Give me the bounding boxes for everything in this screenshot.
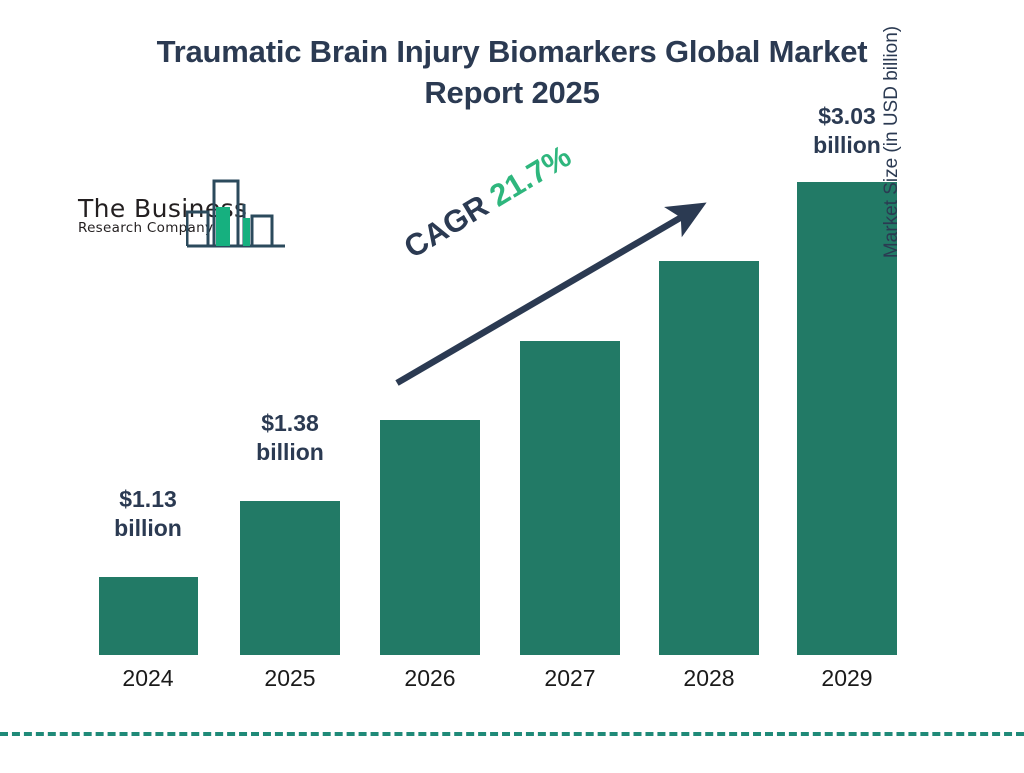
bar-2028[interactable] [659, 261, 759, 655]
x-axis-label-2028: 2028 [649, 665, 769, 692]
bar-value-2025-line2: billion [230, 438, 350, 467]
bar-2027[interactable] [520, 341, 620, 655]
bar-2024[interactable] [99, 577, 198, 655]
x-axis-label-2026: 2026 [370, 665, 490, 692]
x-axis-label-2027: 2027 [510, 665, 630, 692]
bar-value-2024-line2: billion [88, 514, 208, 543]
bar-value-label-2025: $1.38 billion [230, 409, 350, 467]
bar-value-label-2024: $1.13 billion [88, 485, 208, 543]
x-axis-label-2025: 2025 [230, 665, 350, 692]
footer-divider [0, 732, 1024, 736]
bar-value-2025-line1: $1.38 [230, 409, 350, 438]
chart-canvas: Traumatic Brain Injury Biomarkers Global… [0, 0, 1024, 768]
bar-2025[interactable] [240, 501, 340, 655]
bar-2026[interactable] [380, 420, 480, 655]
y-axis-title: Market Size (in USD billion) [881, 0, 903, 312]
x-axis-label-2029: 2029 [787, 665, 907, 692]
bar-value-2024-line1: $1.13 [88, 485, 208, 514]
x-axis-label-2024: 2024 [88, 665, 208, 692]
